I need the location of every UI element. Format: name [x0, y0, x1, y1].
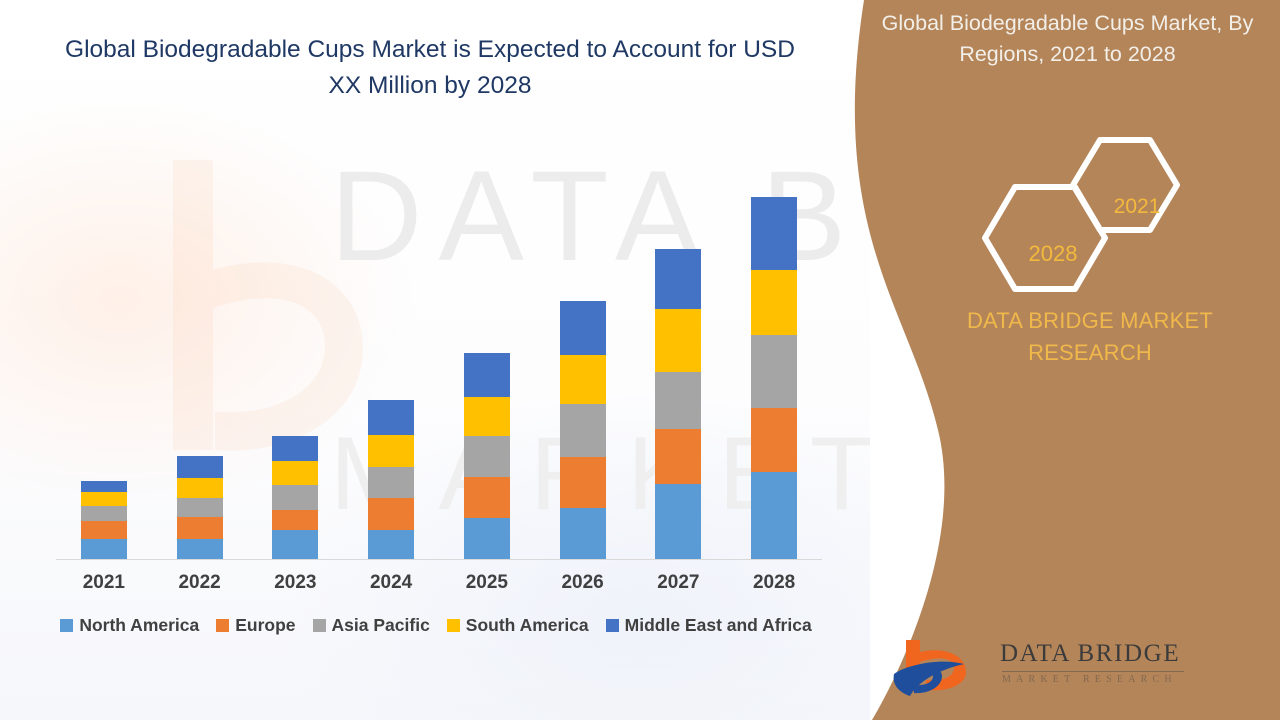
x-axis-label: 2022: [152, 572, 247, 594]
bar-segment: [655, 249, 701, 309]
bar-segment: [81, 539, 127, 559]
legend-swatch-icon: [313, 619, 326, 632]
infographic-root: DATA BRIDGE MARKET RESEARCH Global Biode…: [0, 0, 1280, 720]
legend-swatch-icon: [447, 619, 460, 632]
bar-segment: [272, 530, 318, 559]
legend-item[interactable]: South America: [447, 615, 589, 636]
legend-swatch-icon: [606, 619, 619, 632]
bar-column: [631, 170, 726, 559]
bar-segment: [368, 498, 414, 530]
bar-segment: [81, 521, 127, 539]
data-bridge-logo-icon: [890, 638, 990, 700]
x-axis-label: 2027: [631, 572, 726, 594]
plot-area: [56, 170, 822, 560]
bar-segment: [81, 481, 127, 492]
legend-label: Europe: [235, 615, 295, 636]
legend-swatch-icon: [216, 619, 229, 632]
side-panel-title: Global Biodegradable Cups Market, By Reg…: [865, 8, 1270, 69]
bar-stack: [272, 436, 318, 559]
x-axis-label: 2028: [727, 572, 822, 594]
chart-panel: DATA BRIDGE MARKET RESEARCH Global Biode…: [0, 0, 870, 720]
logo-title: DATA BRIDGE: [1000, 640, 1180, 668]
bar-segment: [655, 372, 701, 428]
bar-segment: [751, 472, 797, 559]
logo-subtitle: MARKET RESEARCH: [1002, 674, 1177, 685]
bar-segment: [272, 461, 318, 485]
bar-segment: [177, 517, 223, 538]
bar-column: [727, 170, 822, 559]
bar-column: [439, 170, 534, 559]
bar-segment: [560, 457, 606, 509]
company-logo: DATA BRIDGE MARKET RESEARCH: [890, 638, 1190, 700]
bar-segment: [368, 400, 414, 435]
legend-label: South America: [466, 615, 589, 636]
hexagon-label-2028: 2028: [1003, 241, 1103, 267]
bar-segment: [560, 404, 606, 457]
chart-title: Global Biodegradable Cups Market is Expe…: [60, 32, 800, 103]
hexagon-2028-outline: [985, 187, 1105, 289]
bar-stack: [464, 353, 510, 559]
legend-item[interactable]: Middle East and Africa: [606, 615, 812, 636]
legend-label: Middle East and Africa: [625, 615, 812, 636]
bar-segment: [560, 301, 606, 354]
bar-segment: [560, 355, 606, 405]
bar-group: [56, 170, 822, 559]
bar-segment: [655, 429, 701, 484]
bar-stack: [81, 481, 127, 559]
side-panel-content: Global Biodegradable Cups Market, By Reg…: [820, 0, 1280, 720]
bar-segment: [751, 270, 797, 335]
logo-divider: [1002, 671, 1184, 672]
bar-column: [248, 170, 343, 559]
x-axis-label: 2021: [56, 572, 151, 594]
bar-segment: [655, 309, 701, 372]
bar-segment: [368, 467, 414, 498]
chart-legend: North AmericaEuropeAsia PacificSouth Ame…: [36, 615, 836, 636]
x-axis-labels: 20212022202320242025202620272028: [56, 572, 822, 594]
legend-swatch-icon: [60, 619, 73, 632]
bar-segment: [464, 353, 510, 397]
bar-segment: [272, 510, 318, 529]
bar-segment: [464, 477, 510, 518]
bar-stack: [177, 456, 223, 559]
bar-segment: [751, 197, 797, 270]
bar-segment: [464, 397, 510, 436]
bar-segment: [368, 435, 414, 467]
bar-segment: [81, 506, 127, 522]
x-axis-label: 2025: [439, 572, 534, 594]
bar-stack: [368, 400, 414, 559]
legend-label: Asia Pacific: [332, 615, 430, 636]
bar-segment: [177, 456, 223, 478]
x-axis-label: 2023: [248, 572, 343, 594]
brand-text: DATA BRIDGE MARKET RESEARCH: [920, 305, 1260, 369]
bar-segment: [368, 530, 414, 559]
legend-item[interactable]: North America: [60, 615, 199, 636]
bar-segment: [272, 485, 318, 510]
bar-column: [535, 170, 630, 559]
brand-text-line-2: RESEARCH: [920, 337, 1260, 369]
bar-segment: [272, 436, 318, 460]
bar-stack: [655, 249, 701, 559]
bar-stack: [560, 301, 606, 559]
bar-column: [344, 170, 439, 559]
bar-segment: [751, 408, 797, 472]
bar-segment: [464, 518, 510, 559]
bar-segment: [177, 539, 223, 559]
x-axis-label: 2026: [535, 572, 630, 594]
brand-text-line-1: DATA BRIDGE MARKET: [920, 305, 1260, 337]
bar-segment: [177, 478, 223, 497]
bar-segment: [464, 436, 510, 478]
side-panel: Global Biodegradable Cups Market, By Reg…: [820, 0, 1280, 720]
bar-segment: [655, 484, 701, 559]
hexagon-label-2021: 2021: [1093, 195, 1181, 219]
bar-column: [56, 170, 151, 559]
hexagon-group: 2021 2028: [965, 135, 1215, 295]
bar-segment: [560, 508, 606, 559]
x-axis-label: 2024: [344, 572, 439, 594]
legend-item[interactable]: Asia Pacific: [313, 615, 430, 636]
legend-label: North America: [79, 615, 199, 636]
bar-segment: [751, 335, 797, 408]
x-axis-line: [56, 559, 822, 560]
bar-stack: [751, 197, 797, 559]
bar-segment: [81, 492, 127, 506]
bar-segment: [177, 498, 223, 517]
bar-column: [152, 170, 247, 559]
legend-item[interactable]: Europe: [216, 615, 295, 636]
